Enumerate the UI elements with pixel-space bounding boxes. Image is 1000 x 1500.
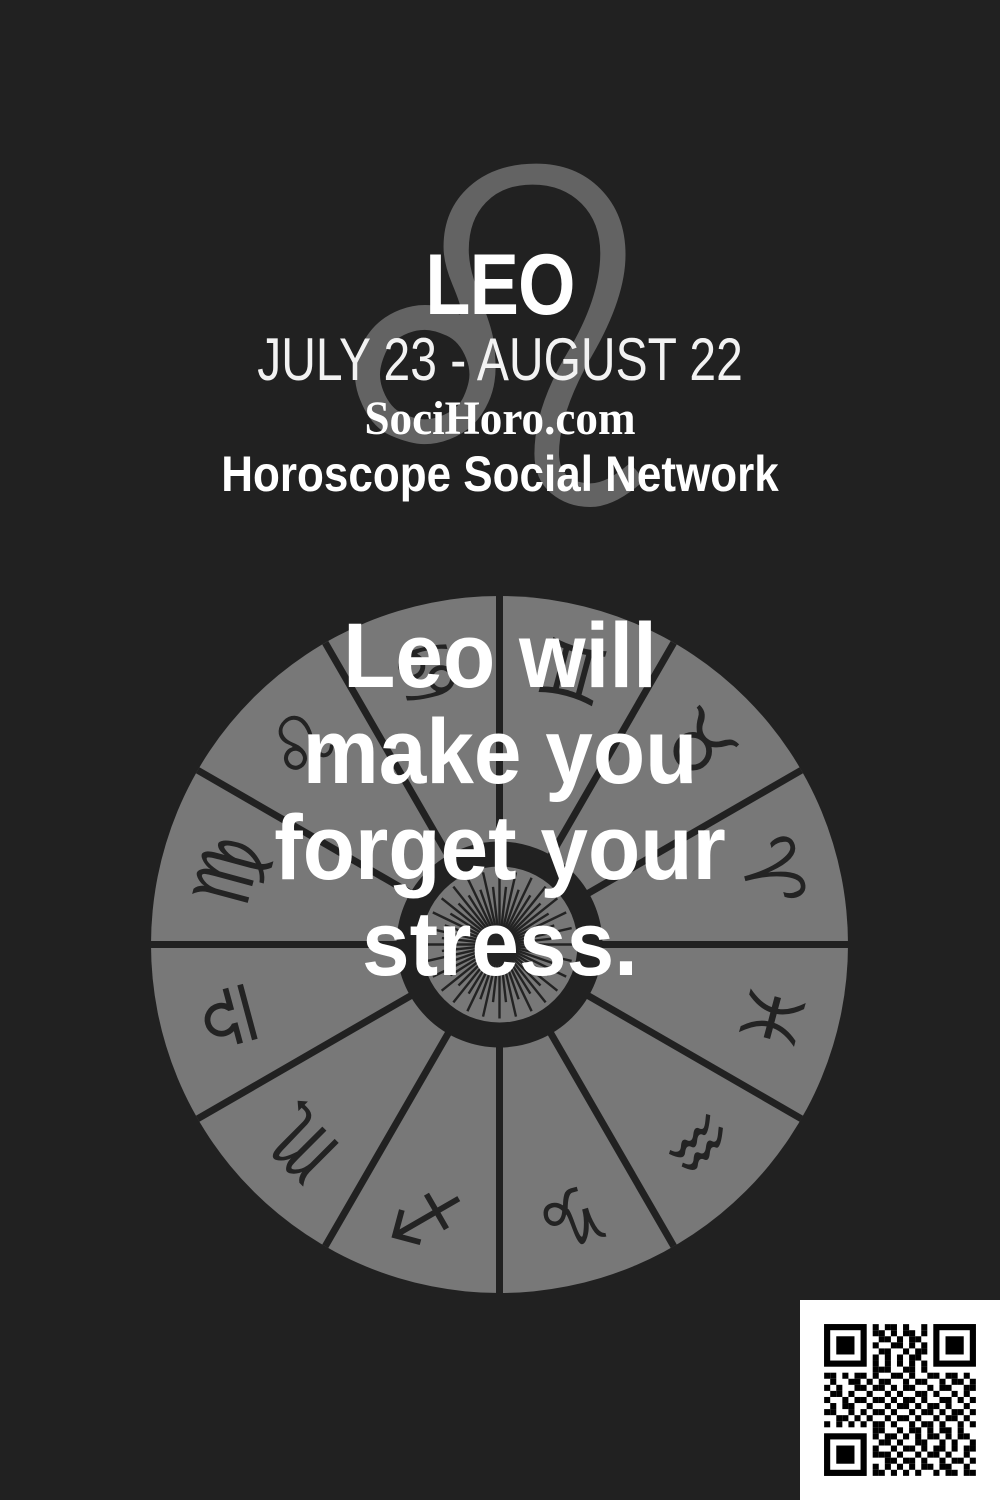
quote-line: Leo will xyxy=(35,608,965,704)
sign-name: LEO xyxy=(70,246,930,324)
date-range: JULY 23 - AUGUST 22 xyxy=(100,331,900,389)
quote-line: forget your xyxy=(35,800,965,896)
horoscope-poster: ♌ LEO JULY 23 - AUGUST 22 SociHoro.com H… xyxy=(0,0,1000,1500)
qr-code[interactable] xyxy=(800,1300,1000,1500)
quote-text: Leo willmake youforget yourstress. xyxy=(35,608,965,992)
site-name: SociHoro.com xyxy=(30,395,970,443)
quote-line: stress. xyxy=(35,896,965,992)
quote-line: make you xyxy=(35,704,965,800)
tagline: Horoscope Social Network xyxy=(60,449,940,499)
header-block: LEO JULY 23 - AUGUST 22 SociHoro.com Hor… xyxy=(0,246,1000,499)
